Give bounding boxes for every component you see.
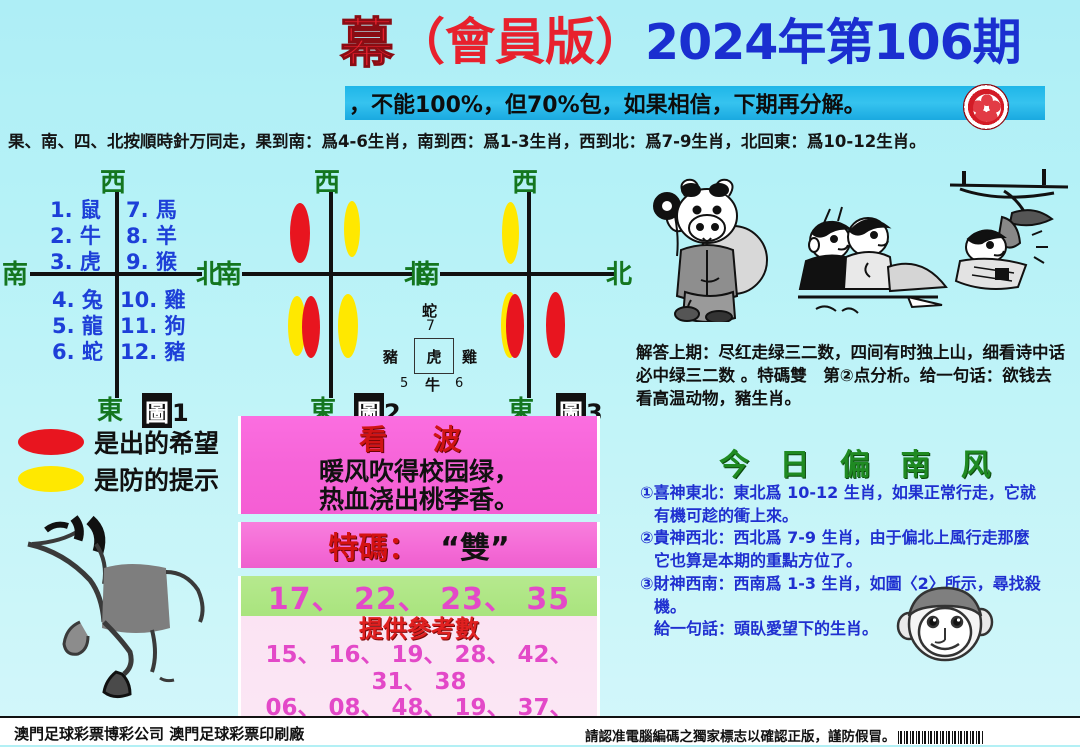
legend-item-red: 是出的希望	[18, 424, 219, 460]
legend-yellow-label: 是防的提示	[94, 461, 219, 497]
figure3-label-south: 南	[414, 254, 440, 291]
figure3-label-west: 西	[512, 162, 538, 199]
kanbo-panel: 看 波 暖风吹得校园绿， 热血浇出桃李香。	[238, 416, 600, 514]
figure1-zodiac-6: 6. 蛇	[52, 336, 103, 366]
mini-box-left: 豬	[383, 346, 398, 367]
figure1-zodiac-12: 12. 豬	[120, 336, 186, 366]
figure1-caption-num: 1	[172, 399, 189, 427]
legend-red-label: 是出的希望	[94, 424, 219, 460]
two-men-at-table-cartoon	[790, 205, 955, 325]
figure1-label-west: 西	[100, 162, 126, 199]
wind-closing: 給一句話：頭臥愛望下的生肖。	[640, 618, 1080, 641]
tema-label: 特碼：	[328, 523, 418, 567]
header-banner-text: ，不能100%，但70%包，如果相信，下期再分解。	[345, 87, 866, 119]
figure3-vertical-axis	[527, 190, 531, 398]
mini-box-bottom-left-num: 5	[400, 376, 408, 391]
wind-item-1-line2: 有機可趁的衝上來。	[640, 505, 1080, 528]
footer-company: 澳門足球彩票博彩公司 澳門足球彩票印刷廠	[14, 723, 304, 744]
figure2-yellow-oval-bottomright	[338, 294, 358, 358]
reference-row-1: 15、 16、 19、 28、 42、 31、 38	[241, 642, 597, 694]
title-mu: 幕	[340, 0, 395, 78]
header-banner: ，不能100%，但70%包，如果相信，下期再分解。	[345, 86, 1045, 120]
wind-list: ①喜神東北：東北爲 10-12 生肖，如果正常行走，它就 有機可趁的衝上來。 ②…	[640, 482, 1080, 641]
figure2-red-oval-bottomleft	[302, 296, 320, 358]
figure2-horizontal-axis	[242, 272, 412, 276]
title-paren-close: ）	[595, 2, 645, 74]
yellow-oval-legend-icon	[18, 466, 84, 492]
wind-item-3-line1: ③財神西南：西南爲 1-3 生肖，如圖〈2〉所示，尋找殺	[640, 573, 1080, 596]
figure3-red-oval-bottomright	[546, 292, 565, 358]
figure1-label-south: 南	[2, 254, 28, 291]
wind-title: 今 日 偏 南 风	[700, 440, 1020, 484]
wind-item-2-line1: ②貴神西北：西北爲 7-9 生肖，由于偏北上風行走那麼	[640, 527, 1080, 550]
main-numbers: 17、 22、 23、 35	[268, 574, 570, 618]
title-member-edition: 會員版	[445, 2, 595, 74]
kanbo-title: 看 波	[241, 416, 597, 458]
footer-notice: 請認准電腦編碼之獨家標志以確認正版，謹防假冒。	[585, 725, 984, 745]
legend-item-yellow: 是防的提示	[18, 461, 219, 497]
answer-block: 解答上期：尽红走绿三二数，四间有时独上山，细看诗中话 必中绿三二数 。特碼雙 第…	[636, 342, 1076, 410]
figure3-red-oval-bottomleft	[506, 294, 524, 358]
wind-item-1-text: 喜神東北：東北爲 10-12 生肖，如果正常行走，它就	[654, 483, 1036, 502]
figure-1: 西 南 北 東 圖1 1. 鼠 2. 牛 3. 虎 7. 馬 8. 羊 9. 猴…	[14, 168, 224, 408]
wind-item-2-marker: ②	[640, 528, 654, 547]
figure1-vertical-axis	[115, 190, 119, 398]
hk-bauhinia-icon	[963, 84, 1009, 130]
reference-title: 提供參考數	[241, 616, 597, 642]
answer-line-1: 解答上期：尽红走绿三二数，四间有时独上山，细看诗中话	[636, 342, 1076, 365]
figure1-label-east: 東	[97, 390, 123, 427]
answer-line-2: 必中绿三二数 。特碼雙 第②点分析。给一句话：欲钱去	[636, 365, 1076, 388]
wind-item-3-marker: ③	[640, 574, 654, 593]
wind-item-2-text: 貴神西北：西北爲 7-9 生肖，由于偏北上風行走那麼	[654, 528, 1030, 547]
title-issue: 2024年第106期	[645, 3, 1021, 74]
figure3-horizontal-axis	[440, 272, 614, 276]
ox-sketch-cartoon	[10, 506, 225, 711]
wind-item-2-line2: 它也算是本期的重點方位了。	[640, 550, 1080, 573]
figure2-vertical-axis	[329, 190, 333, 398]
figure-3: 西 南 北 東 圖3	[430, 168, 630, 408]
title-paren-open: （	[395, 2, 445, 74]
tema-panel: 特碼： “雙”	[238, 522, 600, 568]
man-reading-newspaper-cartoon	[940, 165, 1075, 295]
figure2-red-oval-topleft	[290, 203, 310, 263]
kanbo-poem-line1: 暖风吹得校园绿，	[241, 458, 597, 486]
page-root: 幕 （ 會員版 ） 2024年第106期 ，不能100%，但70%包，如果相信，…	[0, 0, 1080, 745]
page-title: 幕 （ 會員版 ） 2024年第106期	[340, 2, 1080, 74]
barcode	[898, 731, 984, 744]
answer-line-3: 看高温动物，豬生肖。	[636, 388, 1076, 411]
instruction-line: 果、南、四、北按順時針万同走，果到南：爲4-6生肖，南到西：爲1-3生肖，西到北…	[8, 128, 1072, 152]
figure2-label-south: 南	[216, 254, 242, 291]
figure1-zodiac-3: 3. 虎	[50, 246, 101, 276]
footer: 澳門足球彩票博彩公司 澳門足球彩票印刷廠 請認准電腦編碼之獨家標志以確認正版，謹…	[0, 716, 1080, 745]
red-oval-legend-icon	[18, 429, 84, 455]
tema-value: “雙”	[440, 523, 509, 567]
figure2-label-west: 西	[314, 162, 340, 199]
kanbo-poem-line2: 热血浇出桃李香。	[241, 486, 597, 514]
figure1-caption: 圖1	[142, 393, 189, 428]
figure1-zodiac-9: 9. 猴	[126, 246, 177, 276]
monkey-face-cartoon	[895, 578, 995, 673]
wind-item-3-line2: 機。	[640, 596, 1080, 619]
figure3-yellow-oval-topleft	[502, 202, 519, 264]
main-numbers-panel: 17、 22、 23、 35	[238, 576, 600, 616]
figure3-label-north: 北	[606, 254, 632, 291]
wind-item-1-marker: ①	[640, 483, 654, 502]
cow-farmer-cartoon	[645, 172, 775, 322]
reference-numbers-panel: 提供參考數 15、 16、 19、 28、 42、 31、 38 06、 08、…	[238, 616, 600, 716]
wind-item-1-line1: ①喜神東北：東北爲 10-12 生肖，如果正常行走，它就	[640, 482, 1080, 505]
footer-notice-text: 請認准電腦編碼之獨家標志以確認正版，謹防假冒。	[585, 729, 896, 745]
figure1-caption-box: 圖	[142, 393, 172, 428]
figure2-yellow-oval-topright	[344, 201, 360, 257]
